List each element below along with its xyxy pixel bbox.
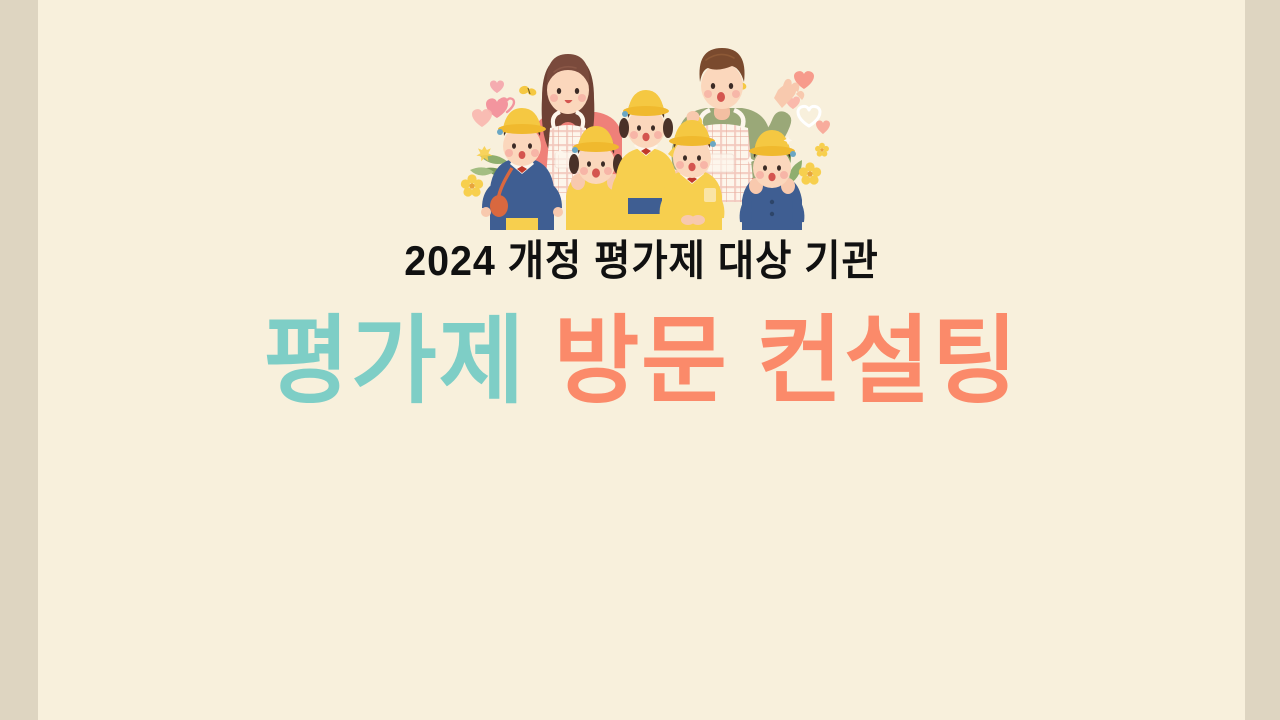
decoration-butterfly-left: [518, 85, 537, 97]
page-subheading: 2024 개정 평가제 대상 기관: [74, 236, 1209, 286]
left-border-band: [0, 0, 38, 720]
kindergarten-family-illustration: [450, 28, 850, 230]
page-title: 평가제방문 컨설팅: [56, 286, 1227, 416]
decoration-hearts-right: [786, 71, 830, 134]
right-border-band: [1245, 0, 1280, 720]
hat-yellow: [622, 90, 669, 117]
text-block: 2024 개정 평가제 대상 기관 평가제방문 컨설팅: [38, 236, 1245, 415]
poster-canvas: 2024 개정 평가제 대상 기관 평가제방문 컨설팅: [0, 0, 1280, 720]
page-title-part1: 평가제: [264, 308, 527, 415]
decoration-flowers-right: [799, 143, 829, 185]
page-title-part2: 방문 컨설팅: [554, 308, 1020, 415]
